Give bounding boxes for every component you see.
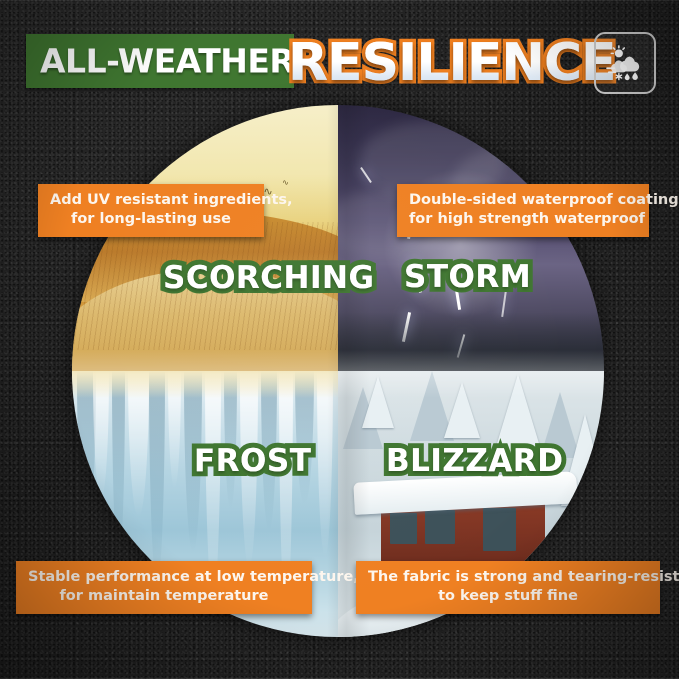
label-blizzard: BLIZZARD bbox=[386, 446, 563, 477]
callout-storm-line1: Double-sided waterproof coating, bbox=[409, 191, 637, 210]
callout-blizzard: The fabric is strong and tearing-resista… bbox=[356, 561, 660, 614]
top-frame-line bbox=[0, 0, 679, 1]
label-frost: FROST bbox=[194, 446, 311, 477]
label-storm: STORM bbox=[404, 262, 531, 293]
callout-frost-line1: Stable performance at low temperature, bbox=[28, 568, 300, 587]
callout-scorching: Add UV resistant ingredients, for long-l… bbox=[38, 184, 264, 237]
label-scorching: SCORCHING bbox=[163, 263, 374, 294]
callout-scorching-line1: Add UV resistant ingredients, bbox=[50, 191, 252, 210]
quadrant-storm-art bbox=[338, 105, 604, 371]
callout-frost-line2: for maintain temperature bbox=[28, 587, 300, 606]
title-part-all-weather: ALL-WEATHER bbox=[40, 42, 294, 81]
callout-storm: Double-sided waterproof coating, for hig… bbox=[397, 184, 649, 237]
callout-blizzard-line2: to keep stuff fine bbox=[368, 587, 648, 606]
title-banner-green: ALL-WEATHER bbox=[26, 34, 294, 88]
callout-scorching-line2: for long-lasting use bbox=[50, 210, 252, 229]
infographic-poster: ALL-WEATHER RESILIENCE RESILIENCE bbox=[0, 0, 679, 679]
callout-frost: Stable performance at low temperature, f… bbox=[16, 561, 312, 614]
quadrant-scorching-art: ∿ ∿ bbox=[72, 105, 338, 371]
callout-storm-line2: for high strength waterproof bbox=[409, 210, 637, 229]
callout-blizzard-line1: The fabric is strong and tearing-resista… bbox=[368, 568, 648, 587]
header: ALL-WEATHER RESILIENCE RESILIENCE bbox=[26, 30, 656, 96]
title-part-resilience-stroke: RESILIENCE bbox=[288, 30, 616, 96]
weather-mixed-icon bbox=[594, 32, 656, 94]
